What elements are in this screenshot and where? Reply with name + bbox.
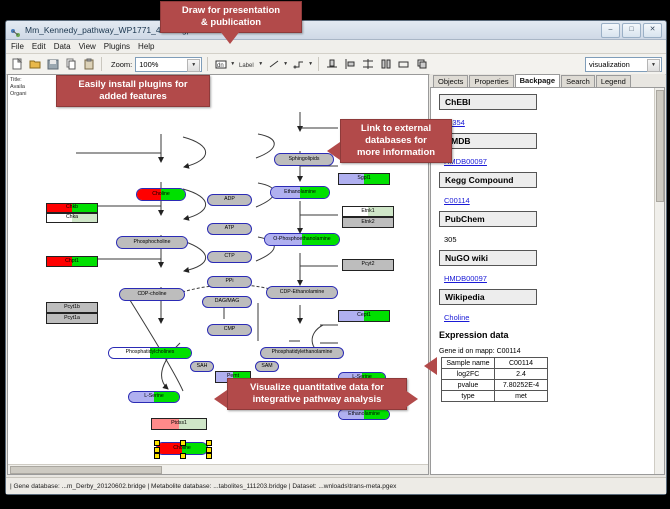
tab-objects[interactable]: Objects [433,75,468,87]
database-name-kegg-compound: Kegg Compound [439,172,537,188]
toolbar-separator [101,57,102,71]
table-cell-key: type [442,391,495,402]
backpage-vscrollbar[interactable] [654,88,664,474]
status-bar: | Gene database: ...m_Derby_20120602.bri… [6,477,666,494]
menu-item-plugins[interactable]: Plugins [104,42,130,51]
table-cell-key: pvalue [442,380,495,391]
order-icon[interactable] [414,57,429,72]
database-name-wikipedia: Wikipedia [439,289,537,305]
database-link[interactable]: HMDB00097 [444,274,487,283]
gene-node[interactable]: Sgpl1 [338,173,390,185]
connector-tool-icon[interactable] [291,57,306,72]
close-button[interactable]: ✕ [643,23,662,38]
gene-node[interactable]: Pcyt1a [46,313,98,324]
node-label: O-Phosphoethanolamine [273,237,330,242]
node-label: SAM [261,364,272,369]
node-label: Etnk2 [361,220,374,225]
metabolite-node[interactable]: Phosphatidylcholines [108,347,192,359]
metabolite-node[interactable]: Ethanolamine [338,409,390,420]
pathway-title-label: Title: [10,77,27,84]
database-value-row: C00114 [439,190,664,211]
tab-search[interactable]: Search [561,75,595,87]
metabolite-node[interactable]: CDP-Ethanolamine [266,286,338,299]
status-bar-text: | Gene database: ...m_Derby_20120602.bri… [10,483,396,490]
maximize-button[interactable]: □ [622,23,641,38]
database-value-row: 15354 [439,112,664,133]
side-panel: Objects Properties Backpage Search Legen… [430,74,665,475]
selection-handle[interactable] [180,440,186,446]
database-link[interactable]: C00114 [444,196,470,205]
window-controls: – □ ✕ [601,23,662,38]
node-label: Chpt1 [65,259,79,264]
node-label: CDP-Ethanolamine [280,290,324,295]
expression-data-table: Sample nameC00114log2FC2.4pvalue7.80252E… [441,357,548,402]
tab-properties[interactable]: Properties [469,75,513,87]
node-label: SAH [197,364,208,369]
metabolite-node[interactable]: CTP [207,251,252,263]
menu-bar: File Edit Data View Plugins Help [6,40,666,54]
menu-item-view[interactable]: View [79,42,96,51]
metabolite-node[interactable]: PPi [207,276,252,288]
node-label: ADP [224,197,235,202]
gene-node[interactable]: Chkb [46,203,98,213]
canvas-hscroll-thumb[interactable] [10,466,162,474]
node-label: Choline [152,192,170,197]
pathway-organism-label: Organi [10,91,27,98]
node-label: CTP [224,254,234,259]
pathway-availability-label: Availa [10,84,27,91]
label-dropdown-icon[interactable]: ▼ [258,61,263,67]
visualization-value: visualization [589,60,630,69]
align-left-icon[interactable] [342,57,357,72]
database-link[interactable]: Choline [444,313,469,322]
callout-links-arrow-2-icon [424,357,437,375]
gene-node[interactable]: Chka [46,213,98,223]
menu-item-edit[interactable]: Edit [32,42,46,51]
database-name-chebi: ChEBI [439,94,537,110]
table-row: pvalue7.80252E-4 [442,380,548,391]
menu-item-help[interactable]: Help [138,42,154,51]
metabolite-node[interactable]: ATP [207,223,252,235]
tab-backpage[interactable]: Backpage [515,74,560,87]
canvas-hscrollbar[interactable] [8,464,428,474]
node-label: Pcyt1b [64,305,80,310]
selection-handle[interactable] [206,453,212,459]
node-label: Pcyt1a [64,316,80,321]
visualization-combo[interactable]: visualization ▼ [585,57,662,72]
new-file-icon[interactable] [9,57,24,72]
database-value-row: 305 [439,229,664,250]
node-label: Chkb [66,205,78,210]
gene-node[interactable]: Etnk2 [342,217,394,228]
gene-node[interactable]: Ptdss1 [151,418,207,430]
distribute-icon[interactable] [360,57,375,72]
metabolite-node[interactable]: CDP-choline [119,288,185,301]
align-tool-icon[interactable] [324,57,339,72]
node-label: Phosphatidylcholines [126,350,175,355]
metabolite-node[interactable]: O-Phosphoethanolamine [264,233,340,246]
table-row: log2FC2.4 [442,369,548,380]
visualization-chevron-icon[interactable]: ▼ [647,59,660,72]
callout-links-text: Link to external databases for more info… [341,120,451,162]
database-value-row: HMDB00097 [439,151,664,172]
node-label: Ethanolamine [348,412,380,417]
metabolite-node[interactable]: Phosphatidylethanolamine [260,347,344,359]
gene-node[interactable]: Pcyt1b [46,302,98,313]
expression-data-heading: Expression data [439,330,664,340]
metabolite-node[interactable]: Ethanolamine [270,186,330,199]
screenshot-root: Mm_Kennedy_pathway_WP1771_45176.gpml – □… [0,0,670,509]
database-value-row: Choline [439,307,664,328]
node-label: Etnk1 [361,209,374,214]
table-cell-value: 7.80252E-4 [495,380,548,391]
node-label: Pcyt2 [362,262,375,267]
node-label: Cept1 [357,313,371,318]
pathvisio-icon [10,25,21,36]
database-name-nugo-wiki: NuGO wiki [439,250,537,266]
save-icon[interactable] [45,57,60,72]
database-value-row: HMDB00097 [439,268,664,289]
selection-handle[interactable] [154,447,160,453]
group-icon[interactable] [396,57,411,72]
gene-id-on-mapp: Gene id on mapp: C00114 [439,348,664,355]
metabolite-node[interactable]: CMP [207,324,252,336]
node-label: CDP-choline [137,292,166,297]
selection-handle[interactable] [154,440,160,446]
gene-node[interactable]: Pcyt2 [342,259,394,271]
application-window: Mm_Kennedy_pathway_WP1771_45176.gpml – □… [5,20,667,495]
toolbar-separator-2 [207,57,208,71]
menu-item-data[interactable]: Data [54,42,71,51]
callout-visualize: Visualize quantitative data for integrat… [227,378,407,410]
selection-handle[interactable] [206,440,212,446]
node-label: PPi [225,279,233,284]
callout-links: Link to external databases for more info… [340,119,452,163]
table-cell-key: log2FC [442,369,495,380]
node-label: CMP [224,327,236,332]
zoom-combo[interactable]: 100% ▼ [135,57,202,72]
metabolite-node[interactable]: SAH [190,361,214,372]
database-name-hmdb: HMDB [439,133,537,149]
node-label: Sgpl1 [357,176,370,181]
main-body: Title: Availa Organi [6,73,666,476]
callout-plugins: Easily install plugins for added feature… [56,75,210,107]
datanode-dropdown-icon[interactable]: ▼ [230,61,235,67]
menu-item-file[interactable]: File [11,42,24,51]
gene-node[interactable]: Etnk1 [342,206,394,217]
line-dropdown-icon[interactable]: ▼ [283,61,288,67]
callout-draw-text: Draw for presentation & publication [161,2,301,32]
selection-handle[interactable] [180,453,186,459]
zoom-label: Zoom: [111,60,132,69]
stack-icon[interactable] [378,57,393,72]
open-folder-icon[interactable] [27,57,42,72]
table-cell-value: 2.4 [495,369,548,380]
database-link-list: ChEBI15354HMDBHMDB00097Kegg CompoundC001… [439,94,664,328]
svg-text:Label: Label [239,63,254,69]
paste-icon[interactable] [81,57,96,72]
node-label: Ptdss1 [171,421,187,426]
node-label: ATP [225,226,235,231]
chevron-down-icon[interactable]: ▼ [187,59,200,72]
selection-handle[interactable] [154,453,160,459]
side-panel-tabs: Objects Properties Backpage Search Legen… [430,74,665,87]
callout-draw: Draw for presentation & publication [160,1,302,33]
callout-visualize-text: Visualize quantitative data for integrat… [228,379,406,409]
gene-node[interactable]: Chpt1 [46,256,98,267]
metabolite-node[interactable]: Phosphocholine [116,236,188,249]
tab-legend[interactable]: Legend [596,75,631,87]
node-label: Choline [173,446,191,451]
zoom-value: 100% [139,60,158,69]
backpage-vscroll-thumb[interactable] [656,90,664,202]
connector-dropdown-icon[interactable]: ▼ [308,61,313,67]
database-value: 305 [444,235,457,244]
table-cell-key: Sample name [442,358,495,369]
gene-node[interactable]: Cept1 [338,310,390,322]
svg-text:dn: dn [217,63,224,69]
table-cell-value: C00114 [495,358,548,369]
callout-visualize-arrow-right-icon [405,390,418,408]
table-row: Sample nameC00114 [442,358,548,369]
callout-plugins-text: Easily install plugins for added feature… [57,76,209,106]
node-label: DAG/MAG [215,299,240,304]
metabolite-node[interactable]: DAG/MAG [202,296,252,308]
backpage-content[interactable]: ChEBI15354HMDBHMDB00097Kegg CompoundC001… [430,87,665,475]
metabolite-node[interactable]: Sphingolipids [274,153,334,166]
datanode-tool-icon[interactable]: dn [213,57,228,72]
callout-links-arrow-icon [327,142,340,160]
copy-icon[interactable] [63,57,78,72]
node-label: Chka [66,215,78,220]
node-label: Sphingolipids [289,157,320,162]
metabolite-node[interactable]: Choline [136,188,186,201]
label-tool-icon[interactable]: Label [238,57,256,72]
metabolite-node[interactable]: ADP [207,194,252,206]
node-label: Phosphocholine [134,240,171,245]
node-label: Phosphatidylethanolamine [272,350,333,355]
node-label: Ethanolamine [284,190,316,195]
callout-draw-arrow-icon [220,31,240,44]
database-name-pubchem: PubChem [439,211,537,227]
title-bar: Mm_Kennedy_pathway_WP1771_45176.gpml – □… [6,21,666,40]
metabolite-node[interactable]: L-Serine [128,391,180,403]
toolbar: Zoom: 100% ▼ dn▼ Label▼ ▼ ▼ visualizatio… [6,54,666,75]
table-cell-value: met [495,391,548,402]
toolbar-separator-3 [318,57,319,71]
selection-handle[interactable] [206,447,212,453]
line-tool-icon[interactable] [266,57,281,72]
pathway-info-labels: Title: Availa Organi [10,77,27,98]
metabolite-node[interactable]: SAM [255,361,279,372]
node-label: L-Serine [144,394,164,399]
minimize-button[interactable]: – [601,23,620,38]
callout-plugins-arrow-icon [121,74,139,75]
callout-visualize-arrow-icon [214,390,227,408]
table-row: typemet [442,391,548,402]
